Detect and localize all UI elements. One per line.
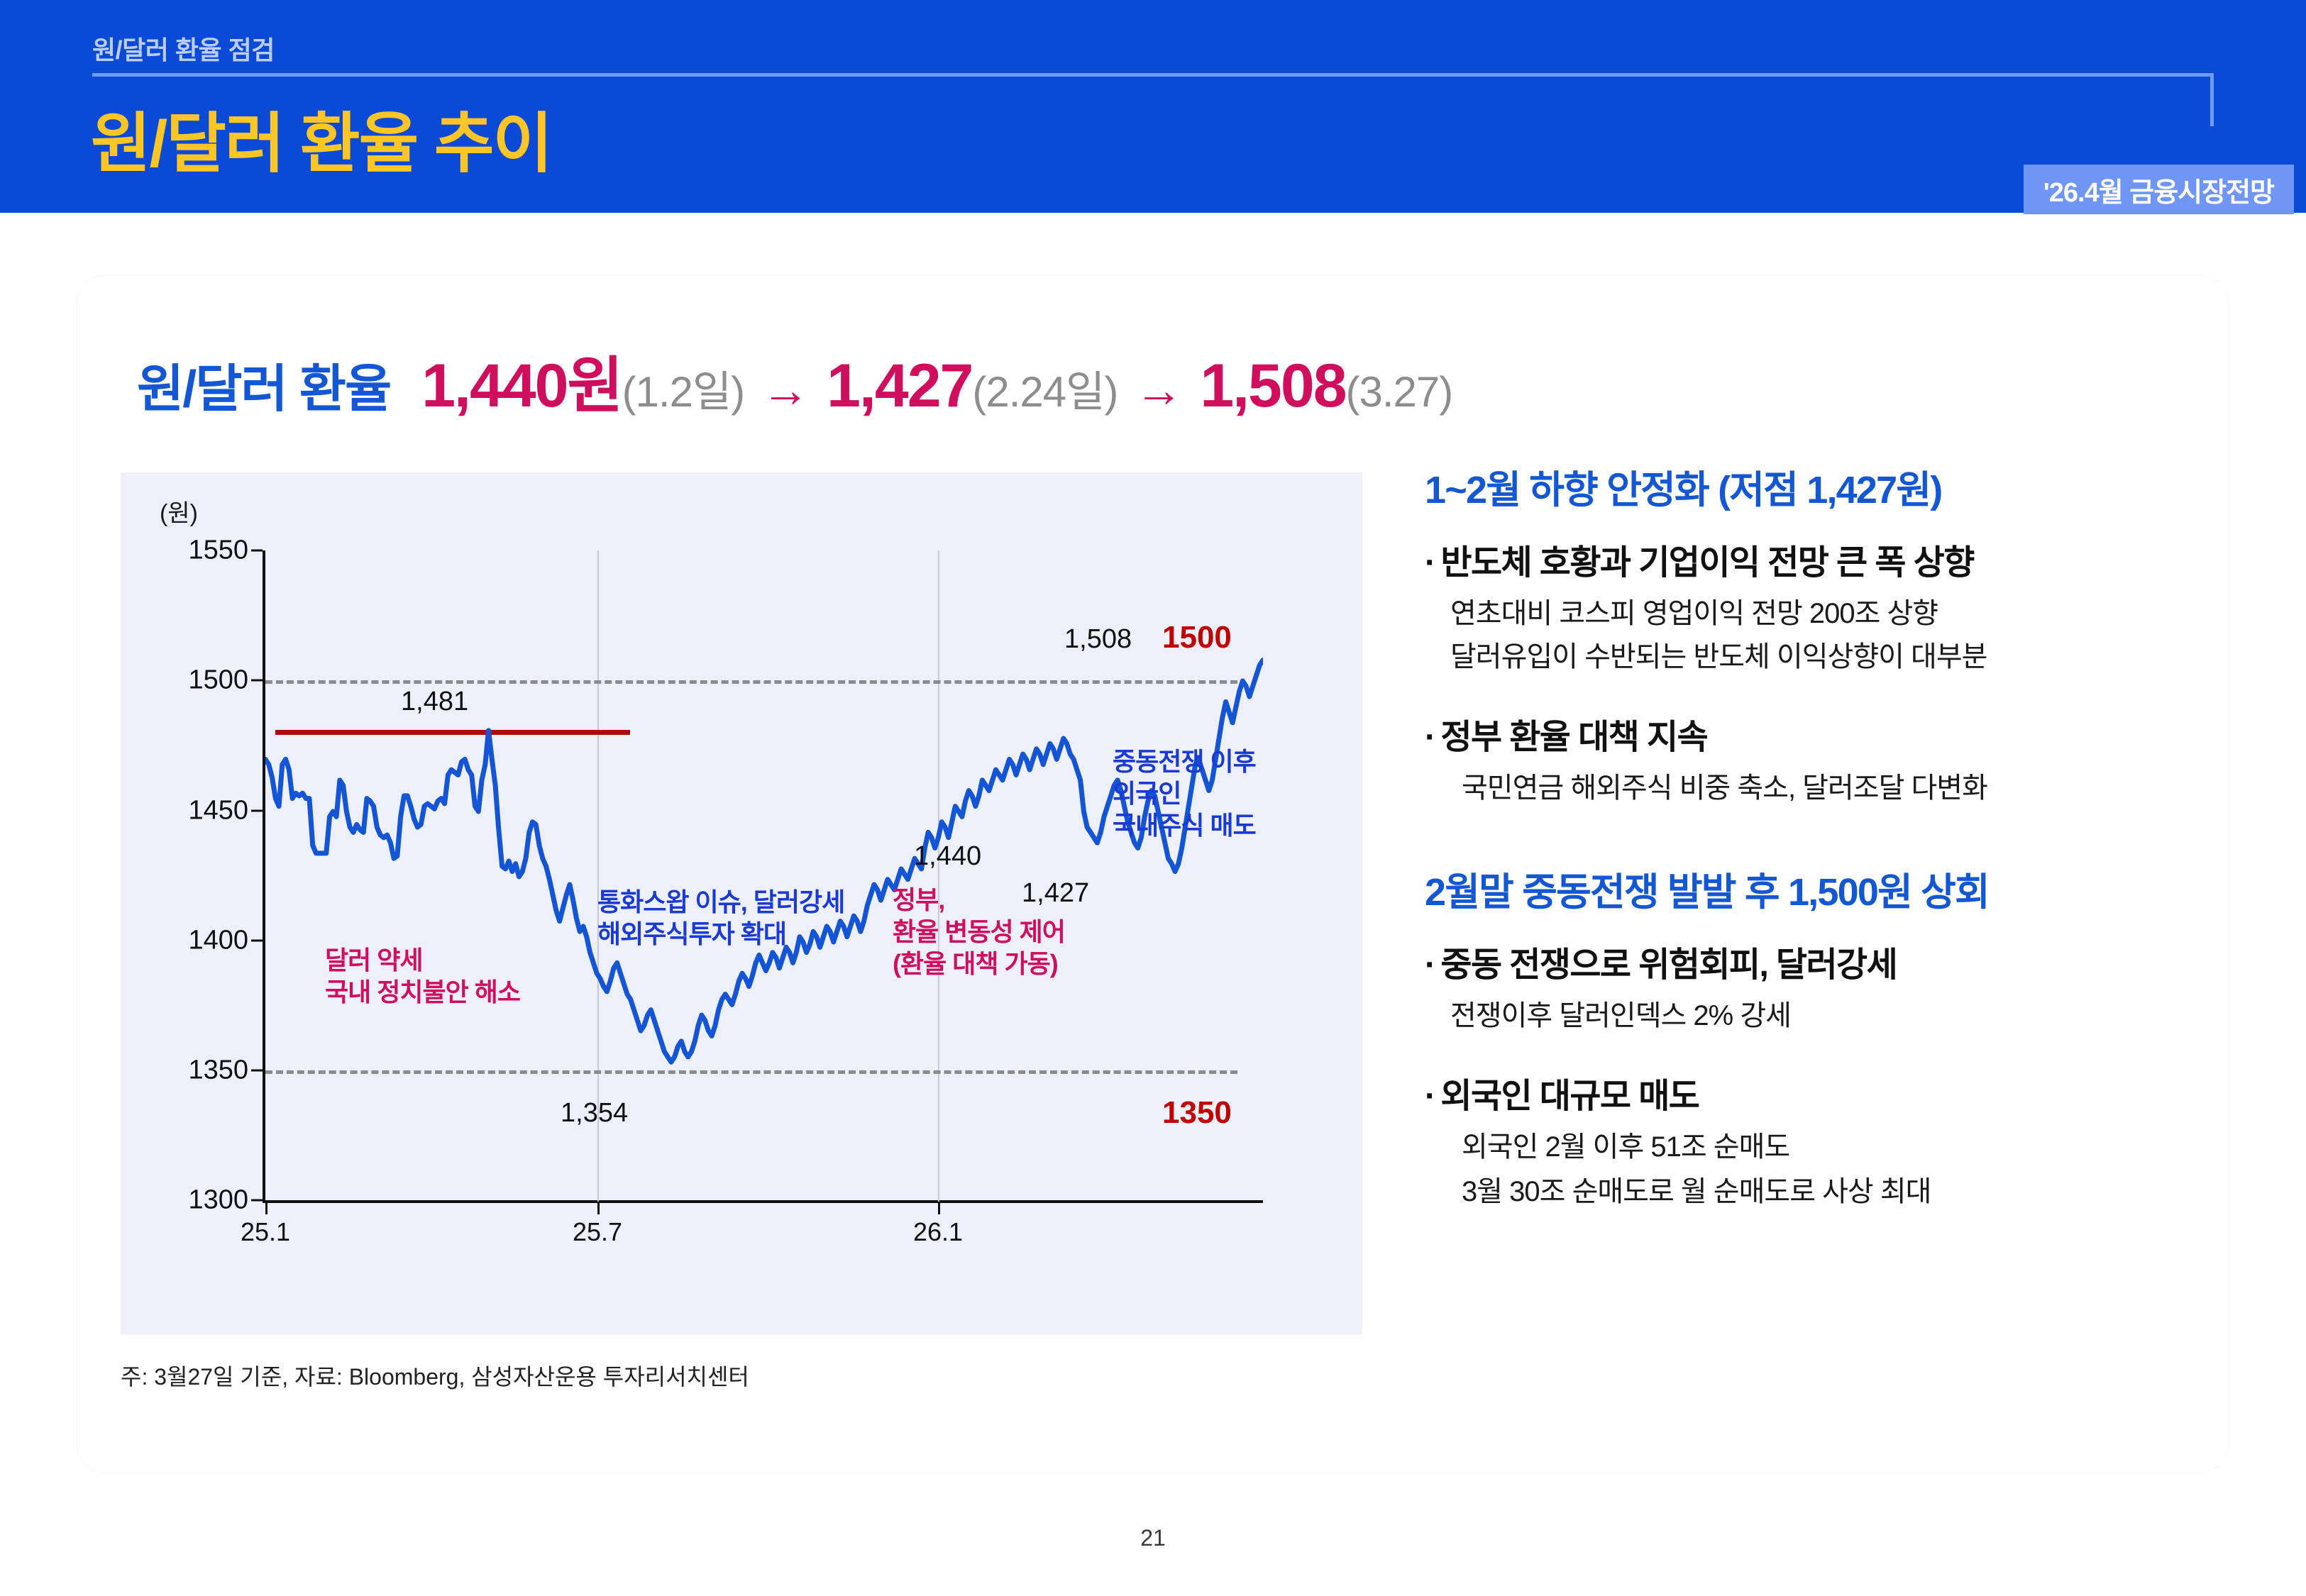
y-tick-label: 1400	[142, 926, 248, 956]
point-label-1354: 1,354	[561, 1097, 628, 1131]
rate-date-2: (2.24일)	[972, 358, 1118, 419]
insight-bullet-1-2: ·정부 환율 대책 지속	[1425, 709, 2198, 758]
insight-bullet-1-1-text: 반도체 호황과 기업이익 전망 큰 폭 상향	[1440, 544, 1973, 582]
insights-column: 1~2월 하향 안정화 (저점 1,427원) ·반도체 호황과 기업이익 전망…	[1425, 458, 2198, 1212]
insight-sub-2-2b: 3월 30조 순매도로 월 순매도로 사상 최대	[1462, 1172, 2198, 1212]
insights-block-2: 2월말 중동전쟁 발발 후 1,500원 상회 ·중동 전쟁으로 위험회피, 달…	[1425, 860, 2198, 1212]
x-tick-mark	[597, 1203, 600, 1214]
x-tick-label: 25.7	[573, 1217, 622, 1247]
insight-sub-2-1a: 전쟁이후 달러인덱스 2% 강세	[1450, 996, 2198, 1036]
y-tick-mark	[251, 550, 263, 552]
point-label-1350-band: 1350	[1162, 1093, 1232, 1132]
bullet-dot-icon: ·	[1425, 544, 1435, 582]
insight-sub-2-2a: 외국인 2월 이후 51조 순매도	[1462, 1127, 2198, 1168]
bullet-dot-icon: ·	[1425, 1077, 1435, 1115]
rate-value-3: 1,508	[1200, 351, 1345, 421]
slide-header: 원/달러 환율 점검 원/달러 환율 추이 '26.4월 금융시장전망	[0, 0, 2306, 213]
x-tick-label: 25.1	[241, 1217, 290, 1247]
status-badge: '26.4월 금융시장전망	[2024, 165, 2294, 214]
y-tick-mark	[251, 810, 263, 812]
insight-bullet-2-1-text: 중동 전쟁으로 위험회피, 달러강세	[1440, 946, 1897, 984]
rate-summary-line: 원/달러 환율 1,440원 (1.2일) → 1,427 (2.24일) → …	[137, 336, 1452, 424]
insight-heading-2: 2월말 중동전쟁 발발 후 1,500원 상회	[1425, 860, 2198, 916]
annotation-currency-swap: 통화스왑 이슈, 달러강세 해외주식투자 확대	[597, 886, 844, 950]
annotation-midEast-war: 중동전쟁 이후 외국인 국내주식 매도	[1113, 746, 1256, 841]
insight-bullet-2-1: ·중동 전쟁으로 위험회피, 달러강세	[1425, 936, 2198, 986]
arrow-icon-2: →	[1135, 362, 1183, 418]
bullet-dot-icon: ·	[1425, 946, 1435, 984]
y-tick-mark	[251, 1070, 263, 1072]
y-axis-unit-label: (원)	[160, 494, 198, 528]
y-tick-label: 1350	[142, 1055, 248, 1086]
page-number: 21	[0, 1525, 2306, 1551]
rate-summary-label: 원/달러 환율	[137, 347, 390, 421]
y-tick-label: 1300	[142, 1185, 248, 1216]
insight-heading-1: 1~2월 하향 안정화 (저점 1,427원)	[1425, 458, 2198, 514]
insight-sub-1-1b: 달러유입이 수반되는 반도체 이익상향이 대부분	[1450, 637, 2198, 677]
rate-value-1: 1,440원	[421, 336, 622, 424]
insight-bullet-1-1: ·반도체 호황과 기업이익 전망 큰 폭 상향	[1425, 534, 2198, 584]
bullet-dot-icon: ·	[1425, 719, 1435, 756]
point-label-1481: 1,481	[401, 685, 468, 719]
x-tick-mark	[938, 1203, 940, 1214]
insight-sub-1-2a: 국민연금 해외주식 비중 축소, 달러조달 다변화	[1462, 768, 2198, 809]
content-card: 원/달러 환율 1,440원 (1.2일) → 1,427 (2.24일) → …	[77, 275, 2229, 1473]
insight-sub-1-1a: 연초대비 코스피 영업이익 전망 200조 상향	[1450, 594, 2198, 634]
rate-date-3: (3.27)	[1346, 367, 1453, 416]
annotation-dollar-weakness: 달러 약세 국내 정치불안 해소	[325, 944, 520, 1008]
insight-bullet-2-2-text: 외국인 대규모 매도	[1440, 1077, 1699, 1115]
header-divider-cap	[2210, 73, 2214, 126]
exchange-rate-chart: (원) 1550 1500 1450 1400 1350 1300 25.1 2…	[121, 472, 1362, 1334]
y-tick-mark	[251, 680, 263, 682]
y-tick-label: 1550	[142, 536, 248, 566]
point-label-1440: 1,440	[914, 840, 981, 874]
rate-value-2: 1,427	[827, 351, 972, 421]
y-tick-label: 1450	[142, 796, 248, 826]
annotation-government-policy: 정부, 환율 변동성 제어 (환율 대책 가동)	[893, 884, 1065, 980]
x-tick-mark	[265, 1203, 267, 1214]
rate-date-1: (1.2일)	[622, 358, 745, 419]
y-tick-mark	[251, 1199, 263, 1202]
insight-bullet-1-2-text: 정부 환율 대책 지속	[1440, 719, 1707, 756]
y-tick-mark	[251, 940, 263, 942]
page-title: 원/달러 환율 추이	[91, 91, 551, 185]
header-divider	[92, 73, 2214, 77]
header-eyebrow: 원/달러 환율 점검	[92, 30, 275, 67]
chart-source-note: 주: 3월27일 기준, 자료: Bloomberg, 삼성자산운용 투자리서치…	[121, 1359, 749, 1392]
arrow-icon-1: →	[761, 362, 810, 418]
point-label-1500-band: 1500	[1162, 618, 1232, 657]
y-tick-label: 1500	[142, 665, 248, 696]
x-tick-label: 26.1	[913, 1217, 963, 1247]
insight-bullet-2-2: ·외국인 대규모 매도	[1425, 1068, 2198, 1117]
point-label-1508: 1,508	[1064, 623, 1132, 657]
